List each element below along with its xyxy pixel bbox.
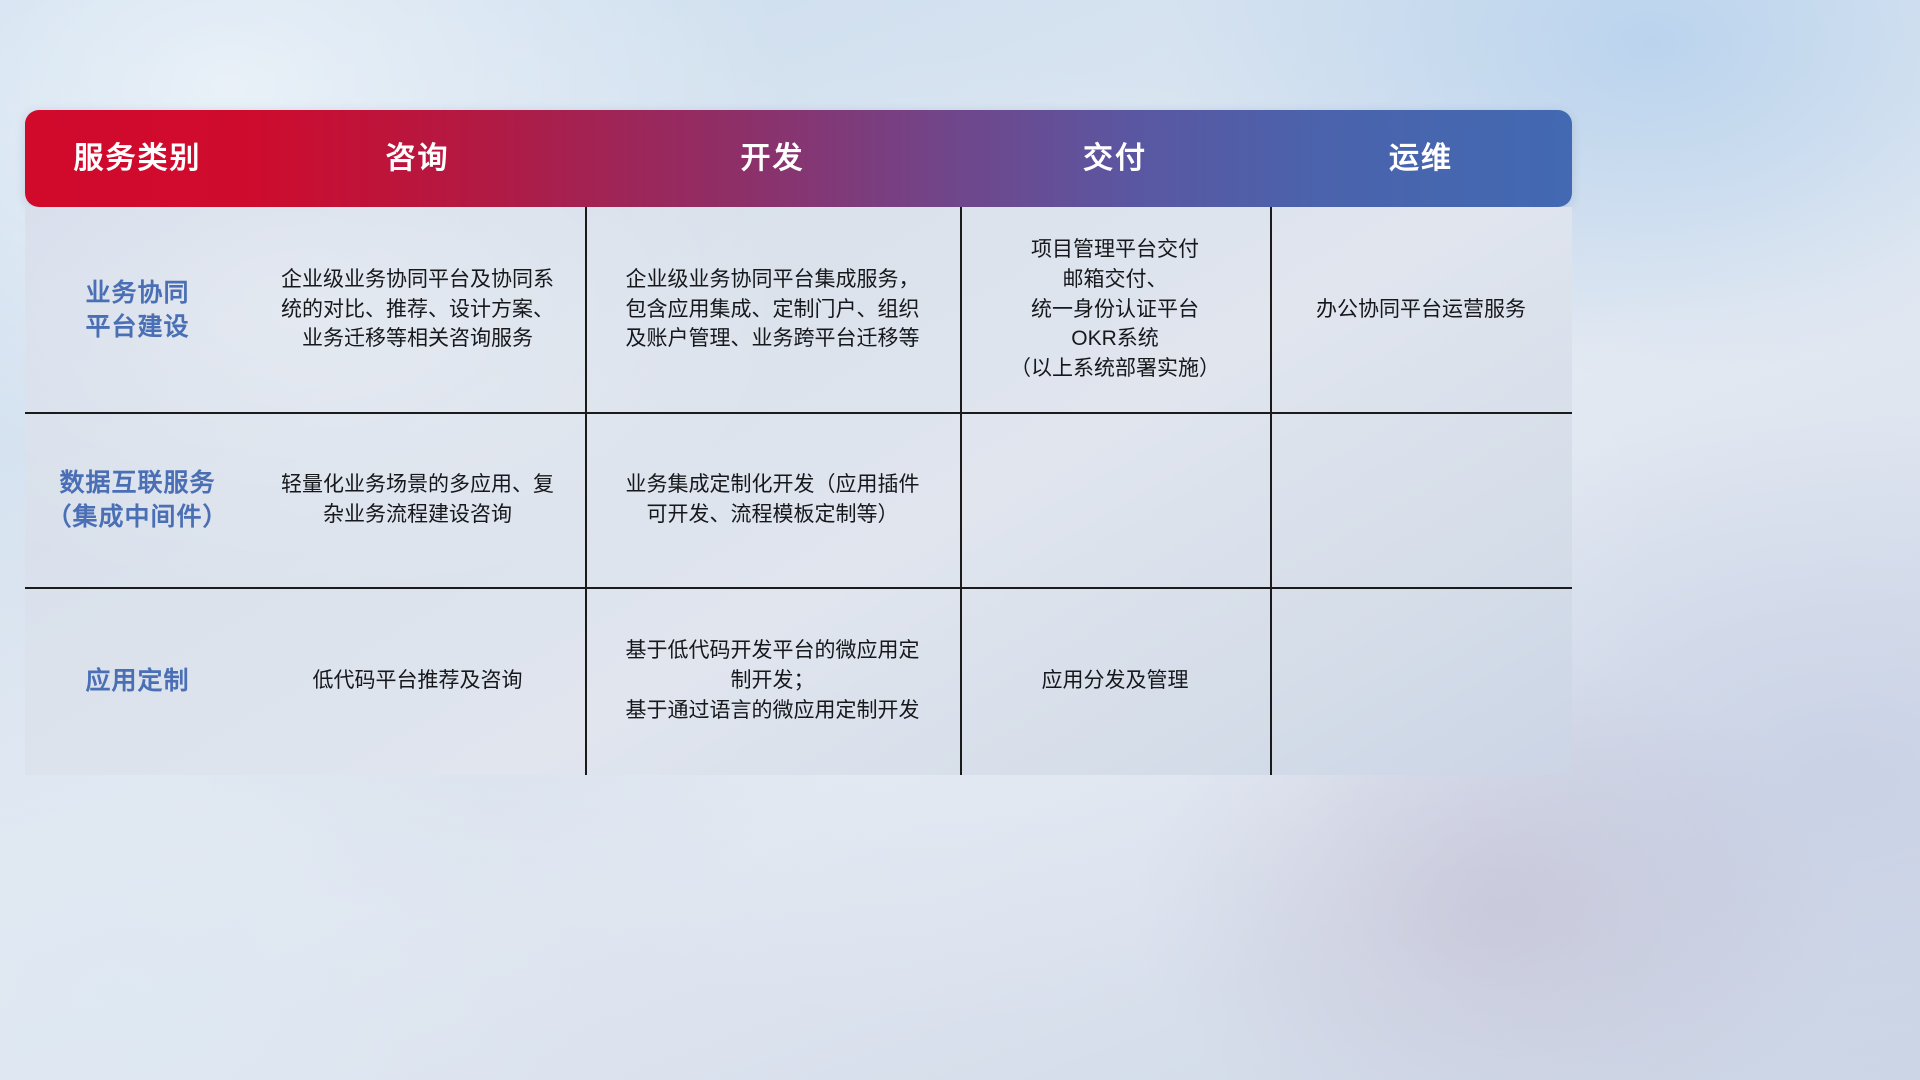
row-label-data-interconnect-service: 数据互联服务 （集成中间件）: [25, 466, 250, 534]
cell-r0-development: 企业级业务协同平台集成服务， 包含应用集成、定制门户、组织 及账户管理、业务跨平…: [585, 265, 960, 354]
column-header-operations: 运维: [1270, 144, 1572, 174]
cell-r0-operations: 办公协同平台运营服务: [1270, 295, 1572, 325]
table-header-row: 服务类别 咨询 开发 交付 运维: [25, 110, 1572, 207]
cell-r2-delivery: 应用分发及管理: [960, 666, 1270, 696]
column-header-development: 开发: [585, 144, 960, 174]
cell-r1-delivery: [960, 499, 1270, 500]
row-divider: [25, 587, 1572, 589]
table-row: 业务协同 平台建设 企业级业务协同平台及协同系 统的对比、推荐、设计方案、 业务…: [25, 207, 1572, 412]
cell-r1-consulting: 轻量化业务场景的多应用、复 杂业务流程建设咨询: [250, 470, 585, 530]
cell-r2-development: 基于低代码开发平台的微应用定 制开发； 基于通过语言的微应用定制开发: [585, 636, 960, 725]
table-body: 业务协同 平台建设 企业级业务协同平台及协同系 统的对比、推荐、设计方案、 业务…: [25, 207, 1572, 775]
row-divider: [25, 412, 1572, 414]
cell-r1-operations: [1270, 499, 1572, 500]
row-label-application-customization: 应用定制: [25, 664, 250, 698]
cell-r0-consulting: 企业级业务协同平台及协同系 统的对比、推荐、设计方案、 业务迁移等相关咨询服务: [250, 265, 585, 354]
table-row: 数据互联服务 （集成中间件） 轻量化业务场景的多应用、复 杂业务流程建设咨询 业…: [25, 412, 1572, 587]
row-label-business-collaboration-platform: 业务协同 平台建设: [25, 276, 250, 344]
table-row: 应用定制 低代码平台推荐及咨询 基于低代码开发平台的微应用定 制开发； 基于通过…: [25, 587, 1572, 775]
cell-r2-consulting: 低代码平台推荐及咨询: [250, 666, 585, 696]
column-header-service-category: 服务类别: [25, 144, 250, 174]
column-header-consulting: 咨询: [250, 144, 585, 174]
column-header-delivery: 交付: [960, 144, 1270, 174]
cell-r2-operations: [1270, 681, 1572, 682]
service-matrix-table: 服务类别 咨询 开发 交付 运维 业务协同 平台建设 企业级业务协同平台及协同系…: [25, 110, 1572, 775]
cell-r0-delivery: 项目管理平台交付 邮箱交付、 统一身份认证平台 OKR系统 （以上系统部署实施）: [960, 235, 1270, 384]
cell-r1-development: 业务集成定制化开发（应用插件 可开发、流程模板定制等）: [585, 470, 960, 530]
